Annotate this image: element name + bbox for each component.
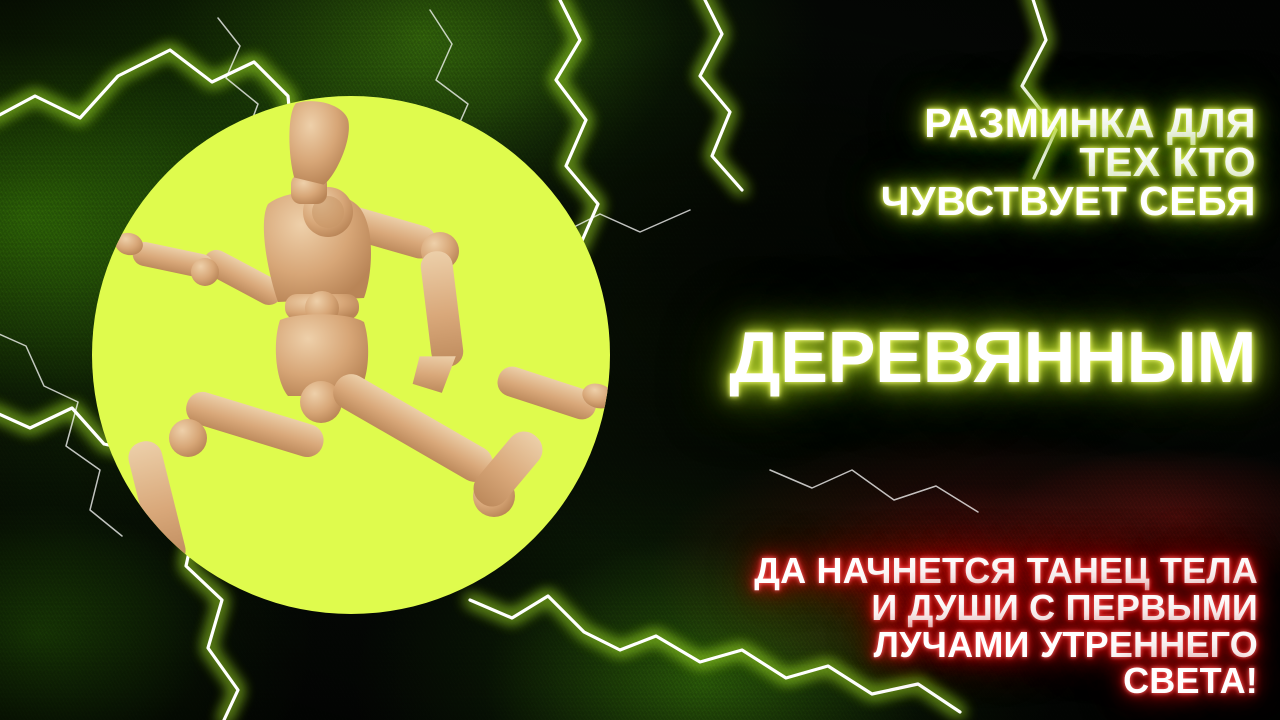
subtitle-line-3: ЛУЧАМИ УТРЕННЕГО xyxy=(558,627,1258,664)
headline-line-1: РАЗМИНКА ДЛЯ xyxy=(556,104,1256,143)
running-wooden-mannequin-figure xyxy=(92,96,610,614)
headline-text: РАЗМИНКА ДЛЯ ТЕХ КТО ЧУВСТВУЕТ СЕБЯ xyxy=(556,104,1256,221)
emphasis-word: ДЕРЕВЯННЫМ xyxy=(556,322,1256,394)
subtitle-line-2: И ДУШИ С ПЕРВЫМИ xyxy=(558,590,1258,627)
mannequin-circle xyxy=(92,96,610,614)
subtitle-line-4: СВЕТА! xyxy=(558,663,1258,700)
subtitle-text: ДА НАЧНЕТСЯ ТАНЕЦ ТЕЛА И ДУШИ С ПЕРВЫМИ … xyxy=(558,553,1258,700)
subtitle-line-1: ДА НАЧНЕТСЯ ТАНЕЦ ТЕЛА xyxy=(558,553,1258,590)
thumbnail-canvas: РАЗМИНКА ДЛЯ ТЕХ КТО ЧУВСТВУЕТ СЕБЯ ДЕРЕ… xyxy=(0,0,1280,720)
headline-line-3: ЧУВСТВУЕТ СЕБЯ xyxy=(556,182,1256,221)
headline-line-2: ТЕХ КТО xyxy=(556,143,1256,182)
